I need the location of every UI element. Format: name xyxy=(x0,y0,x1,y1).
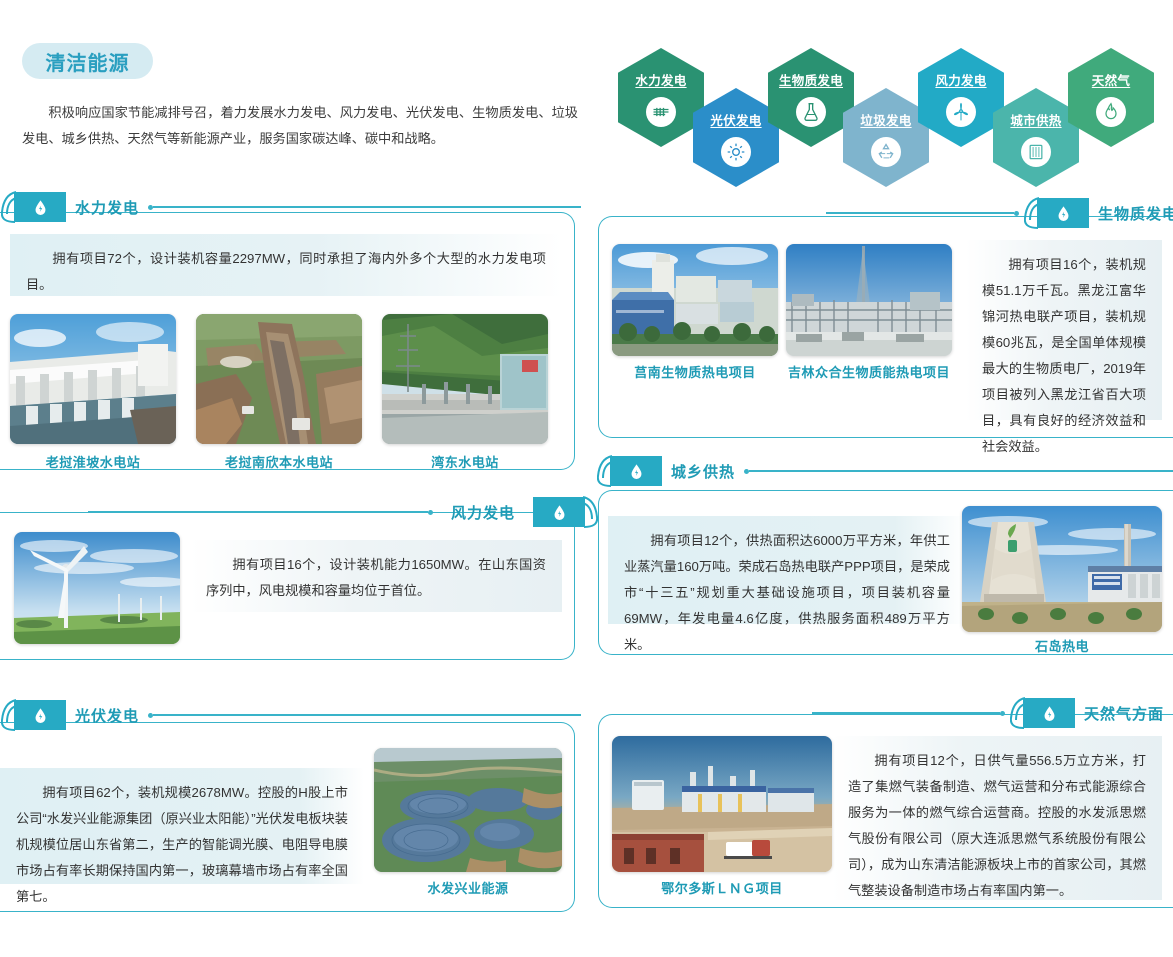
water-drop-icon xyxy=(1055,204,1072,223)
water-drop-icon xyxy=(551,503,568,522)
section-header-hydro: 水力发电 xyxy=(14,192,581,222)
hexagon-label: 水力发电 xyxy=(635,70,686,89)
ribbon-flag xyxy=(610,456,662,486)
connector-rule xyxy=(826,212,1014,213)
ribbon-badge xyxy=(14,192,66,222)
ribbon-badge xyxy=(1037,198,1089,228)
section-header-gas: 天然气方面 xyxy=(812,698,1164,728)
photo-caption-hydro-2: 湾东水电站 xyxy=(382,452,548,471)
radiator-icon xyxy=(1021,137,1051,167)
section-card-gas: 鄂尔多斯ＬＮＧ项目 拥有项目12个，日供气量556.5万立方米，打造了集燃气装备… xyxy=(598,714,1173,908)
sun-icon xyxy=(721,137,751,167)
hexagon-natural-gas[interactable]: 天然气 xyxy=(1068,48,1154,147)
water-drop-icon xyxy=(1041,704,1058,723)
ribbon-flag xyxy=(1037,198,1089,228)
section-label-hydro: 水力发电 xyxy=(75,197,139,218)
photo-caption-gas-0: 鄂尔多斯ＬＮＧ项目 xyxy=(612,878,832,897)
gas-paragraph: 拥有项目12个，日供气量556.5万立方米，打造了集燃气装备制造、燃气运营和分布… xyxy=(832,736,1162,900)
ribbon-flag xyxy=(14,192,66,222)
connector-dot xyxy=(1014,211,1019,216)
ribbon-flag xyxy=(533,497,585,527)
connector-dot xyxy=(428,510,433,515)
hydro-paragraph: 拥有项目72个，设计装机容量2297MW，同时承担了海内外多个大型的水力发电项目… xyxy=(10,234,562,296)
connector-dot xyxy=(1000,711,1005,716)
ribbon-badge xyxy=(610,456,662,486)
water-drop-icon xyxy=(32,706,49,725)
photo-gas-0[interactable] xyxy=(612,736,832,872)
photo-hydro-2[interactable] xyxy=(382,314,548,444)
section-card-wind: 拥有项目16个，设计装机能力1650MW。在山东国资序列中，风电规模和容量均位于… xyxy=(0,512,575,660)
section-label-solar: 光伏发电 xyxy=(75,705,139,726)
connector-rule xyxy=(749,470,1173,471)
connector-line xyxy=(148,713,581,718)
section-card-hydro: 拥有项目72个，设计装机容量2297MW，同时承担了海内外多个大型的水力发电项目… xyxy=(0,212,575,470)
ribbon-badge xyxy=(1023,698,1075,728)
connector-line xyxy=(826,211,1019,216)
flask-icon xyxy=(796,97,826,127)
hexagon-label: 天然气 xyxy=(1092,70,1130,89)
flame-icon xyxy=(1096,97,1126,127)
photo-hydro-0[interactable] xyxy=(10,314,176,444)
ribbon-badge xyxy=(14,700,66,730)
photo-biomass-0[interactable] xyxy=(612,244,778,356)
connector-rule xyxy=(153,206,581,207)
energy-hexagon-row: 水力发电 光伏发电 生物质发电 xyxy=(600,22,1173,182)
hexagon-waste[interactable]: 垃圾发电 xyxy=(843,88,929,187)
ribbon-tail-icon xyxy=(582,495,598,529)
wind-turbine-icon xyxy=(946,97,976,127)
photo-biomass-1[interactable] xyxy=(786,244,952,356)
ribbon-badge xyxy=(533,497,585,527)
photo-caption-hydro-1: 老挝南欣本水电站 xyxy=(196,452,362,471)
hydro-dam-icon xyxy=(646,97,676,127)
ribbon-flag xyxy=(14,700,66,730)
photo-caption-biomass-1: 吉林众合生物质能热电项目 xyxy=(778,362,960,381)
connector-line xyxy=(148,205,581,210)
hexagon-label: 城市供热 xyxy=(1010,110,1061,129)
section-header-biomass: 生物质发电 xyxy=(826,198,1173,228)
hexagon-solar[interactable]: 光伏发电 xyxy=(693,88,779,187)
section-label-wind: 风力发电 xyxy=(451,502,515,523)
photo-solar-0[interactable] xyxy=(374,748,562,872)
connector-rule xyxy=(88,511,428,512)
photo-caption-hydro-0: 老挝淮坡水电站 xyxy=(10,452,176,471)
solar-paragraph: 拥有项目62个，装机规模2678MW。控股的H股上市公司“水发兴业能源集团（原兴… xyxy=(0,768,364,884)
section-label-heating: 城乡供热 xyxy=(671,461,735,482)
water-drop-icon xyxy=(628,462,645,481)
section-card-solar: 拥有项目62个，装机规模2678MW。控股的H股上市公司“水发兴业能源集团（原兴… xyxy=(0,722,575,912)
photo-caption-biomass-0: 莒南生物质热电项目 xyxy=(612,362,778,381)
wind-paragraph: 拥有项目16个，设计装机能力1650MW。在山东国资序列中，风电规模和容量均位于… xyxy=(190,540,562,612)
section-header-wind: 风力发电 xyxy=(88,497,585,527)
photo-wind-0[interactable] xyxy=(14,532,180,644)
hexagon-label: 光伏发电 xyxy=(710,110,761,129)
page-title: 清洁能源 xyxy=(46,47,130,76)
section-card-biomass: 莒南生物质热电项目 吉林众合生物质能热电项目 拥有项目16个，装机规模5 xyxy=(598,216,1173,438)
recycle-icon xyxy=(871,137,901,167)
water-drop-icon xyxy=(32,198,49,217)
section-label-gas: 天然气方面 xyxy=(1084,703,1164,724)
connector-line xyxy=(744,469,1173,474)
hexagon-label: 生物质发电 xyxy=(779,70,843,89)
clean-energy-infographic: 清洁能源 积极响应国家节能减排号召，着力发展水力发电、风力发电、光伏发电、生物质… xyxy=(0,0,1173,957)
connector-line xyxy=(812,711,1005,716)
heating-paragraph: 拥有项目12个，供热面积达6000万平方米，年供工业蒸汽量160万吨。荣成石岛热… xyxy=(608,516,966,624)
hexagon-label: 垃圾发电 xyxy=(860,110,911,129)
section-header-heating: 城乡供热 xyxy=(610,456,1173,486)
hexagon-biomass[interactable]: 生物质发电 xyxy=(768,48,854,147)
hexagon-hydro[interactable]: 水力发电 xyxy=(618,48,704,147)
page-title-pill: 清洁能源 xyxy=(22,43,153,79)
section-label-biomass: 生物质发电 xyxy=(1098,203,1173,224)
hexagon-city-heating[interactable]: 城市供热 xyxy=(993,88,1079,187)
photo-caption-heating-0: 石岛热电 xyxy=(962,636,1162,655)
biomass-paragraph: 拥有项目16个，装机规模51.1万千瓦。黑龙江富华锦河热电联产项目，装机规模60… xyxy=(966,240,1162,420)
photo-heating-0[interactable] xyxy=(962,506,1162,632)
connector-line xyxy=(88,510,433,515)
connector-rule xyxy=(812,712,1000,713)
section-header-solar: 光伏发电 xyxy=(14,700,581,730)
intro-paragraph: 积极响应国家节能减排号召，着力发展水力发电、风力发电、光伏发电、生物质发电、垃圾… xyxy=(22,100,578,152)
photo-hydro-1[interactable] xyxy=(196,314,362,444)
photo-caption-solar-0: 水发兴业能源 xyxy=(374,878,562,897)
connector-rule xyxy=(153,714,581,715)
hexagon-wind[interactable]: 风力发电 xyxy=(918,48,1004,147)
hexagon-label: 风力发电 xyxy=(935,70,986,89)
ribbon-flag xyxy=(1023,698,1075,728)
section-card-heating: 拥有项目12个，供热面积达6000万平方米，年供工业蒸汽量160万吨。荣成石岛热… xyxy=(598,490,1173,655)
